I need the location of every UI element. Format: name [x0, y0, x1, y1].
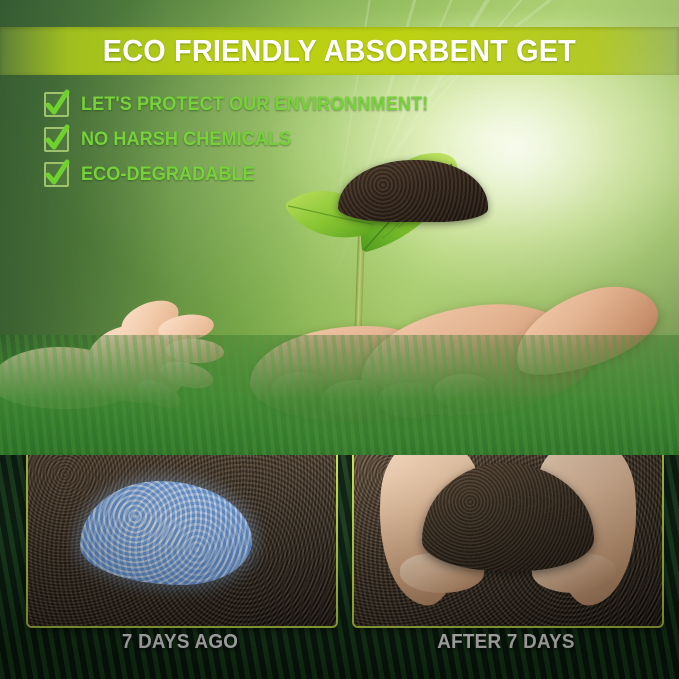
hand-left — [369, 455, 482, 610]
title-banner: ECO FRIENDLY ABSORBENT GET — [0, 27, 679, 75]
comparison-panel-before — [26, 455, 338, 628]
soil-in-hands — [422, 463, 594, 571]
feature-label: LET'S PROTECT OUR ENVIRONNMENT! — [81, 94, 428, 116]
soil-texture — [354, 455, 662, 626]
feature-list: LET'S PROTECT OUR ENVIRONNMENT! NO HARSH… — [44, 92, 446, 187]
panel-label-after: AFTER 7 DAYS — [361, 631, 651, 654]
fingers-left — [400, 553, 484, 593]
feature-label: ECO-DEGRADABLE — [81, 164, 255, 186]
check-mark-icon — [44, 162, 69, 187]
hand-right — [533, 455, 646, 610]
feature-label: NO HARSH CHEMICALS — [81, 129, 291, 151]
product-infographic: ECO FRIENDLY ABSORBENT GET LET'S PROTECT… — [0, 0, 679, 679]
fingers-right — [532, 553, 616, 593]
blue-gel-crystals — [80, 481, 252, 585]
check-mark-icon — [44, 127, 69, 152]
comparison-panel-after — [352, 455, 664, 628]
page-title: ECO FRIENDLY ABSORBENT GET — [103, 33, 576, 69]
feature-item-1: NO HARSH CHEMICALS — [44, 127, 446, 152]
feature-item-0: LET'S PROTECT OUR ENVIRONNMENT! — [44, 92, 446, 117]
hero-scene: ECO FRIENDLY ABSORBENT GET LET'S PROTECT… — [0, 0, 679, 455]
feature-item-2: ECO-DEGRADABLE — [44, 162, 446, 187]
comparison-section: 7 DAYS AGO AFTER 7 DAYS — [0, 455, 679, 679]
check-mark-icon — [44, 92, 69, 117]
hero-grass — [0, 335, 679, 455]
soil-texture — [28, 455, 336, 626]
panel-label-before: 7 DAYS AGO — [35, 631, 325, 654]
